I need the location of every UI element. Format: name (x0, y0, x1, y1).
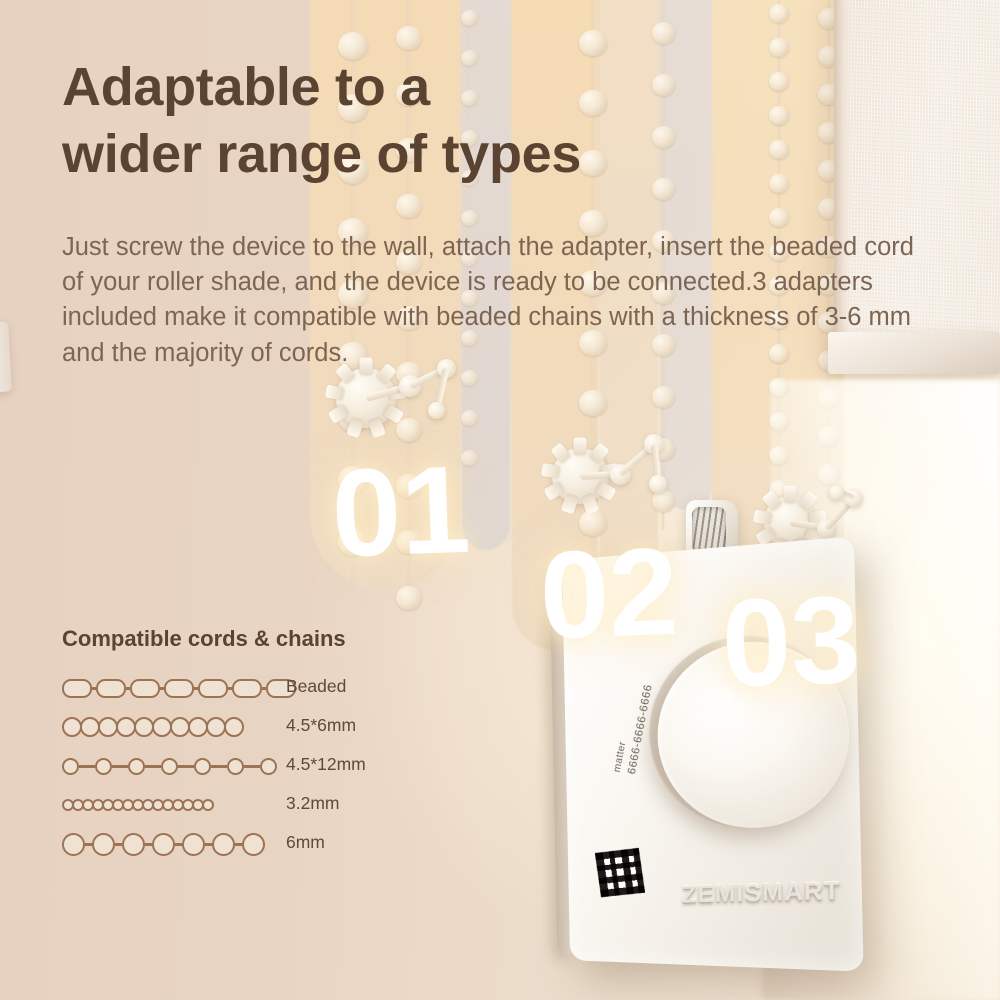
chain-connector (211, 765, 227, 768)
chain-connector (145, 765, 161, 768)
step-number-02: 02 (538, 530, 680, 659)
adapter-cog-tooth (346, 418, 364, 438)
chain-link (92, 833, 115, 856)
compatibility-row: Beaded (62, 672, 402, 711)
chain-connector (115, 843, 122, 846)
qr-code-icon (595, 848, 645, 897)
adapter-cog-tooth (753, 509, 772, 525)
chain-bead (652, 386, 675, 408)
chain-link (202, 799, 214, 811)
chain-link (62, 717, 82, 737)
beaded-round-chain-icon (62, 711, 262, 743)
compatibility-list: Beaded4.5*6mm4.5*12mm3.2mm6mm (62, 672, 402, 867)
chain-link (152, 833, 175, 856)
chain-link (182, 833, 205, 856)
brand-logo-text: ZEMISMART (681, 876, 841, 909)
chain-bead (769, 4, 789, 23)
compatibility-label: 4.5*6mm (286, 715, 356, 736)
chain-link (242, 833, 265, 856)
chain-link (134, 717, 154, 737)
chain-bead (769, 140, 789, 159)
ball-chain-long-link-icon (62, 750, 262, 782)
adapter-cog-tooth (574, 438, 587, 455)
socket-ribbing (692, 507, 726, 553)
adapter-cog-tooth (541, 463, 560, 479)
chain-connector (178, 765, 194, 768)
compatibility-label: 4.5*12mm (286, 754, 366, 775)
chain-connector (235, 843, 242, 846)
chain-link (62, 758, 79, 775)
adapter-cog-tooth (762, 490, 783, 511)
chain-link (164, 679, 194, 698)
fine-ball-chain-icon (62, 789, 262, 821)
chain-link (198, 679, 228, 698)
chain-link (122, 833, 145, 856)
compatibility-title: Compatible cords & chains (62, 626, 346, 652)
adapter-cog-tooth (784, 486, 797, 503)
chain-link (95, 758, 112, 775)
chain-link (161, 758, 178, 775)
adapter-bead (428, 402, 445, 419)
chain-link (96, 679, 126, 698)
chain-link (170, 717, 190, 737)
adapter-cog-tooth (383, 404, 404, 424)
headline-line-2: wider range of types (62, 121, 762, 188)
chain-link (212, 833, 235, 856)
beaded-oval-chain-icon (62, 672, 262, 704)
chain-bead (461, 210, 478, 226)
chain-link (224, 717, 244, 737)
chain-link (128, 758, 145, 775)
step-number-01: 01 (330, 448, 472, 577)
adapter-cog-tooth (328, 404, 349, 424)
adapter-cog-tooth (595, 481, 616, 501)
chain-bead (461, 10, 478, 26)
adapter-cog-tooth (368, 418, 386, 438)
chain-link (188, 717, 208, 737)
compatibility-row: 3.2mm (62, 789, 402, 828)
compatibility-label: Beaded (286, 676, 346, 697)
adapter-cog-tooth (550, 442, 571, 463)
chain-connector (244, 765, 260, 768)
chain-connector (85, 843, 92, 846)
chain-link (80, 717, 100, 737)
adapter-cog-tooth (325, 385, 344, 401)
product-marketing-image: matter 6666-6666-6666 ZEMISMART 01 02 03… (0, 0, 1000, 1000)
chain-link (62, 833, 85, 856)
large-ball-chain-icon (62, 828, 262, 860)
chain-bead (769, 38, 789, 57)
adapter-cog-tooth (798, 490, 819, 511)
step-number-03: 03 (720, 578, 862, 707)
chain-link (130, 679, 160, 698)
compatibility-row: 4.5*6mm (62, 711, 402, 750)
adapter-bead (649, 475, 667, 493)
chain-connector (79, 765, 95, 768)
compatibility-row: 4.5*12mm (62, 750, 402, 789)
compatibility-label: 6mm (286, 832, 325, 853)
chain-bead (769, 208, 789, 227)
chain-link (260, 758, 277, 775)
chain-connector (175, 843, 182, 846)
chain-connector (145, 843, 152, 846)
compatibility-label: 3.2mm (286, 793, 339, 814)
adapter-cog-tooth (581, 494, 599, 514)
compatibility-row: 6mm (62, 828, 402, 867)
chain-link (194, 758, 211, 775)
chain-link (116, 717, 136, 737)
chain-connector (205, 843, 212, 846)
chain-link (227, 758, 244, 775)
chain-bead (769, 174, 789, 193)
chain-connector (112, 765, 128, 768)
page-title: Adaptable to a wider range of types (62, 54, 762, 188)
adapter-cog-tooth (589, 442, 610, 463)
adapter-cog-tooth (543, 481, 564, 501)
chain-link (98, 717, 118, 737)
chain-bead (769, 106, 789, 125)
adapter-cog-tooth (561, 494, 579, 514)
chain-link (62, 679, 92, 698)
chain-link (152, 717, 172, 737)
chain-bead (652, 22, 675, 44)
chain-link (232, 679, 262, 698)
description-paragraph: Just screw the device to the wall, attac… (62, 230, 924, 371)
adapter-bead (829, 485, 844, 500)
chain-link (206, 717, 226, 737)
chain-bead (769, 72, 789, 91)
headline-line-1: Adaptable to a (62, 54, 762, 121)
